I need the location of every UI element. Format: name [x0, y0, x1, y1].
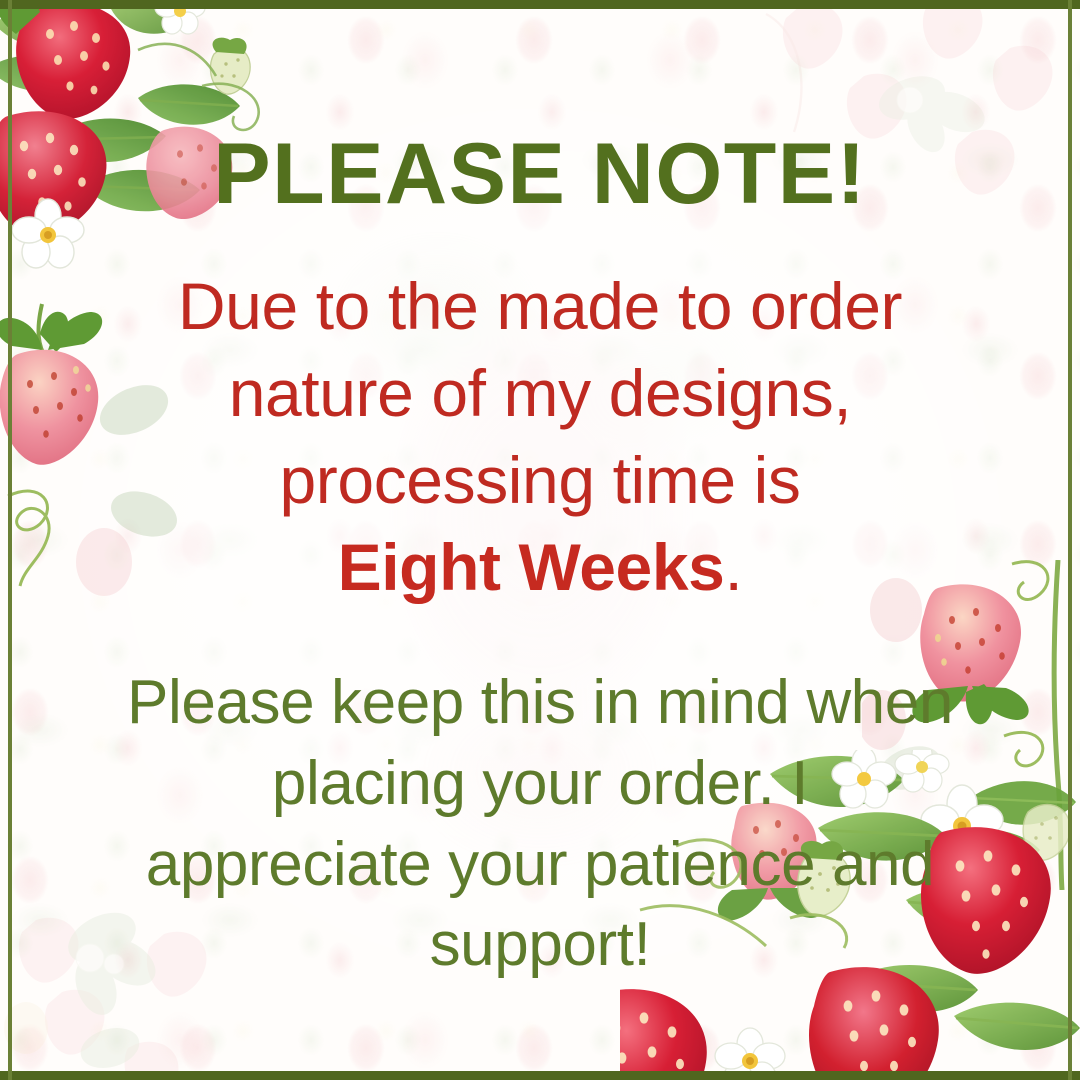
red-line-2: nature of my designs, — [65, 350, 1015, 437]
green-line-4: support! — [60, 905, 1020, 986]
processing-time-paragraph: Due to the made to order nature of my de… — [65, 263, 1015, 611]
red-line-3: processing time is — [65, 437, 1015, 524]
notice-graphic: PLEASE NOTE! Due to the made to order na… — [0, 0, 1080, 1080]
notice-content: PLEASE NOTE! Due to the made to order na… — [0, 0, 1080, 1080]
emphasis-trailing-punctuation: . — [724, 530, 742, 604]
red-emphasis-line: Eight Weeks. — [65, 524, 1015, 611]
courtesy-paragraph: Please keep this in mind when placing yo… — [60, 663, 1020, 985]
processing-time-value: Eight Weeks — [338, 530, 725, 604]
page-title: PLEASE NOTE! — [0, 131, 1080, 217]
red-line-1: Due to the made to order — [65, 263, 1015, 350]
green-line-1: Please keep this in mind when — [60, 663, 1020, 744]
green-line-2: placing your order. I — [60, 744, 1020, 825]
green-line-3: appreciate your patience and — [60, 825, 1020, 906]
